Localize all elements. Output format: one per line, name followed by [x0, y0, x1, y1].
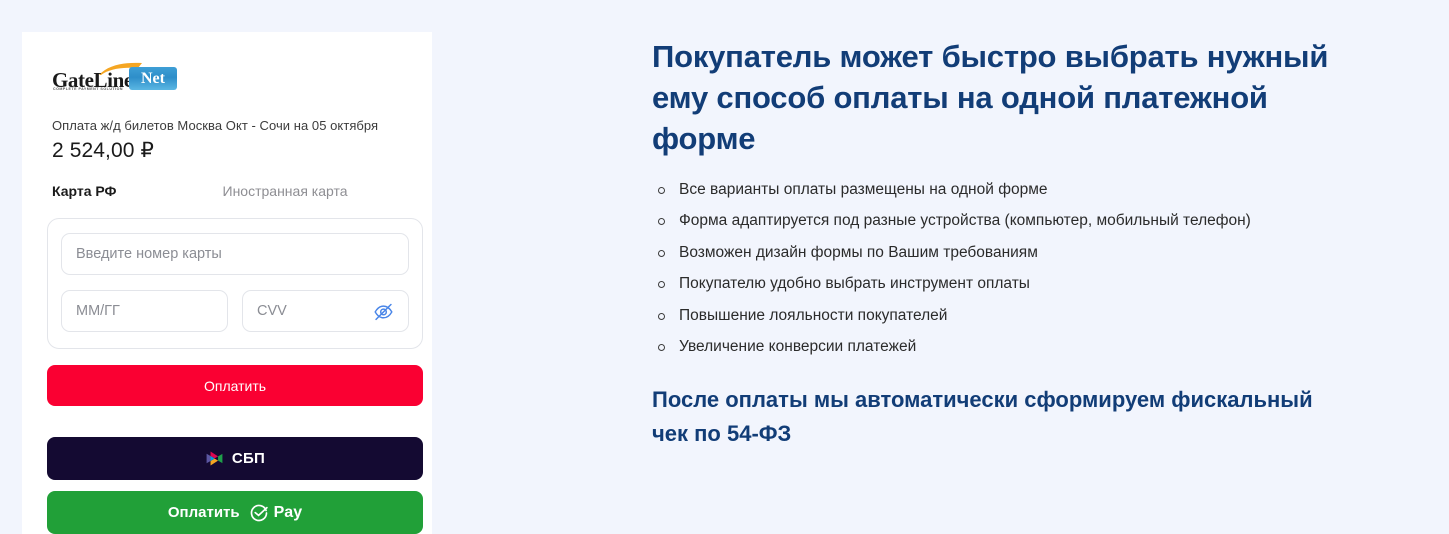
- card-number-input[interactable]: Введите номер карты: [61, 233, 409, 275]
- card-number-placeholder: Введите номер карты: [76, 246, 222, 262]
- tab-russian-card[interactable]: Карта РФ: [52, 183, 117, 199]
- page-headline: Покупатель может быстро выбрать нужный е…: [652, 36, 1352, 160]
- list-item: Возможен дизайн формы по Вашим требовани…: [652, 245, 1352, 261]
- sberpay-check-circle-icon: [249, 503, 269, 523]
- card-expiry-input[interactable]: ММ/ГГ: [61, 290, 228, 332]
- gateline-net-logo: GateLine COMPLETE PAYMENT SOLUTION Net: [52, 62, 177, 96]
- sberpay-button-label: Оплатить: [168, 504, 240, 521]
- sbp-logo-icon: [205, 449, 224, 468]
- sberpay-word: Pay: [274, 504, 302, 522]
- list-item: Повышение лояльности покупателей: [652, 308, 1352, 324]
- page-subheadline: После оплаты мы автоматически сформируем…: [652, 383, 1352, 451]
- list-item: Форма адаптируется под разные устройства…: [652, 213, 1352, 229]
- marketing-content: Покупатель может быстро выбрать нужный е…: [652, 36, 1352, 451]
- sbp-button-label: СБП: [232, 450, 265, 467]
- tab-foreign-card[interactable]: Иностранная карта: [223, 183, 348, 199]
- list-item: Покупателю удобно выбрать инструмент опл…: [652, 276, 1352, 292]
- benefits-list: Все варианты оплаты размещены на одной ф…: [652, 182, 1352, 355]
- payment-method-tabs: Карта РФ Иностранная карта: [52, 183, 412, 199]
- logo-tagline: COMPLETE PAYMENT SOLUTION: [53, 87, 123, 91]
- pay-button[interactable]: Оплатить: [47, 365, 423, 406]
- card-expiry-placeholder: ММ/ГГ: [76, 303, 120, 319]
- payment-form-card: GateLine COMPLETE PAYMENT SOLUTION Net О…: [22, 32, 432, 534]
- logo-net-badge: Net: [129, 67, 177, 90]
- card-expiry-cvv-row: ММ/ГГ CVV: [61, 290, 409, 332]
- order-description: Оплата ж/д билетов Москва Окт - Сочи на …: [52, 118, 412, 133]
- card-cvv-placeholder: CVV: [257, 303, 287, 319]
- list-item: Увеличение конверсии платежей: [652, 339, 1352, 355]
- eye-off-icon[interactable]: [373, 301, 394, 322]
- sbp-pay-button[interactable]: СБП: [47, 437, 423, 480]
- order-amount: 2 524,00 ₽: [52, 138, 412, 163]
- card-fields-group: Введите номер карты ММ/ГГ CVV: [47, 218, 423, 349]
- pay-button-label: Оплатить: [204, 378, 266, 394]
- list-item: Все варианты оплаты размещены на одной ф…: [652, 182, 1352, 198]
- sberpay-button[interactable]: Оплатить Pay: [47, 491, 423, 534]
- card-cvv-input[interactable]: CVV: [242, 290, 409, 332]
